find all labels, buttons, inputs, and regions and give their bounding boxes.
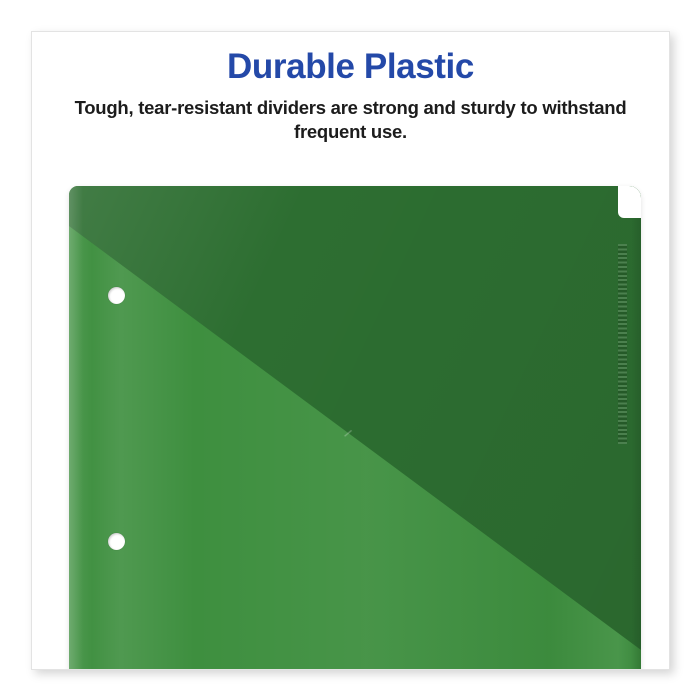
punch-hole-bottom <box>108 533 125 550</box>
reinforcement-strip <box>618 244 627 444</box>
product-info-card: Durable Plastic Tough, tear-resistant di… <box>31 31 670 670</box>
sheet-right-shading <box>631 186 641 669</box>
divider-sheet <box>69 186 641 669</box>
punch-hole-top <box>108 287 125 304</box>
product-image-canvas: Durable Plastic Tough, tear-resistant di… <box>0 0 700 700</box>
divider-illustration <box>32 32 669 669</box>
sheet-left-shading <box>69 186 83 669</box>
tab-corner-notch <box>618 186 641 218</box>
